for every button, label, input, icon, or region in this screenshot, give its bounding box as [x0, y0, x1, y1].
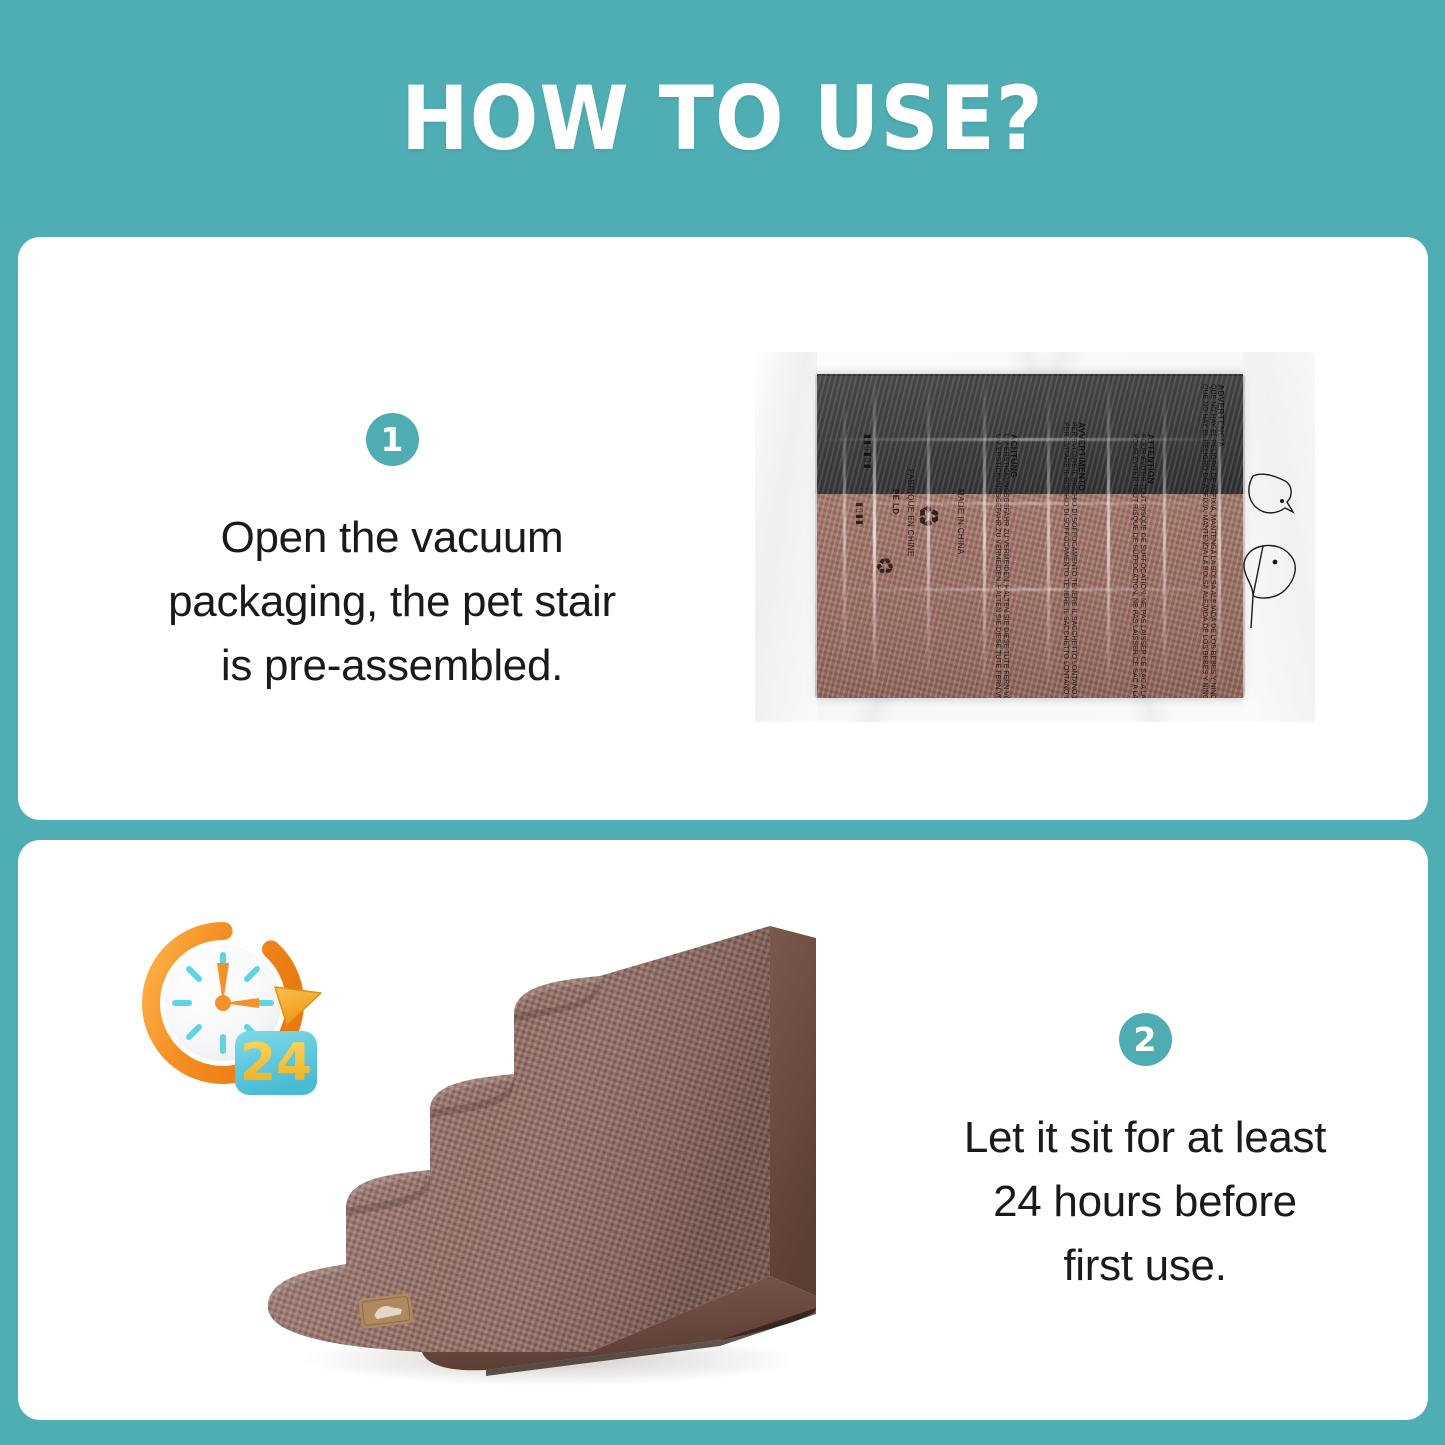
plastic-crinkle — [843, 392, 846, 672]
bag-right-flap — [1243, 352, 1315, 722]
step-2-caption-line-3: first use. — [885, 1234, 1405, 1298]
warning-body-avvertimento-2: PER EVITARE IL RISCHIO DI SOFFOCAMENTO T… — [1062, 422, 1069, 698]
plastic-crinkle — [927, 382, 930, 682]
step-1-caption-line-1: Open the vacuum — [122, 506, 662, 570]
plastic-crinkle — [1218, 378, 1221, 694]
step-1-caption-line-3: is pre-assembled. — [122, 634, 662, 698]
warning-body-advertencia: QUE NO HAY EL PELIGRO DE ASFIXIA, MANTEN… — [1209, 384, 1216, 634]
step-1-caption-line-2: packaging, the pet stair — [122, 570, 662, 634]
step-2-caption: Let it sit for at least 24 hours before … — [885, 1106, 1405, 1297]
step-1-caption: Open the vacuum packaging, the pet stair… — [122, 506, 662, 697]
recycle-symbol-icon: ♻ — [875, 556, 895, 578]
page-header: HOW TO USE? — [0, 0, 1445, 237]
plastic-crinkle — [983, 378, 986, 696]
plastic-crinkle — [873, 376, 876, 696]
warning-body-achtung-2: UM ERSTICKUNGSGEFAHR ZU VERMEIDEN, HALTE… — [994, 434, 1001, 698]
warning-body-achtung: UM ERSTICKUNGSGEFAHR ZU VERMEIDEN, HALTE… — [1002, 434, 1009, 698]
warning-body-attention-2: POUR EVITER TOUT RISQUE DE SUFFOCATION, … — [1131, 434, 1138, 698]
pet-line-drawing-icon-1 — [1243, 470, 1307, 532]
warning-label-attention: ATTENTION — [1146, 434, 1156, 484]
compressed-product-block: ADVERTENCIA QUE NO HAY EL PELIGRO DE ASF… — [815, 374, 1245, 698]
bag-left-flap — [755, 352, 817, 722]
plastic-crinkle — [1163, 382, 1166, 692]
plastic-crinkle — [817, 438, 1237, 441]
vacuum-packed-pet-stair-photo: ADVERTENCIA QUE NO HAY EL PELIGRO DE ASF… — [755, 352, 1315, 722]
pet-brand-logo-tag — [358, 1293, 413, 1329]
plastic-crinkle — [1107, 376, 1110, 696]
page-title: HOW TO USE? — [401, 67, 1044, 170]
step-2-badge: 2 — [1119, 1013, 1172, 1066]
assembled-pet-stair-photo — [250, 878, 850, 1398]
pet-line-drawing-icon-2 — [1233, 542, 1311, 634]
plastic-crinkle — [817, 502, 1237, 505]
origin-text-english: MADE IN CHINA — [956, 489, 965, 555]
plastic-crinkle — [1047, 384, 1050, 690]
warning-label-avvertimento: AVVERTIMENTO — [1077, 422, 1087, 491]
product-edge-shading — [815, 374, 1245, 698]
warning-body-advertencia-2: QUE NO HAY EL PELIGRO DE ASFIXIA, MANTEN… — [1201, 384, 1208, 698]
step-card-2: 24 — [18, 840, 1428, 1420]
plastic-crinkle — [817, 588, 1237, 591]
step-2-caption-line-2: 24 hours before — [885, 1170, 1405, 1234]
warning-body-avvertimento: PER EVITARE IL RISCHIO DI SOFFOCAMENTO T… — [1070, 422, 1077, 698]
step-card-1: 1 Open the vacuum packaging, the pet sta… — [18, 237, 1428, 820]
step-1-badge: 1 — [366, 413, 419, 466]
step-2-text-block: 2 Let it sit for at least 24 hours befor… — [885, 1013, 1405, 1297]
step-2-caption-line-1: Let it sit for at least — [885, 1106, 1405, 1170]
step-1-text-block: 1 Open the vacuum packaging, the pet sta… — [122, 413, 662, 697]
warning-body-attention: POUR EVITER TOUT RISQUE DE SUFFOCATION, … — [1139, 434, 1146, 698]
print-code-block-2: ▮▯▮▮ — [854, 502, 865, 526]
